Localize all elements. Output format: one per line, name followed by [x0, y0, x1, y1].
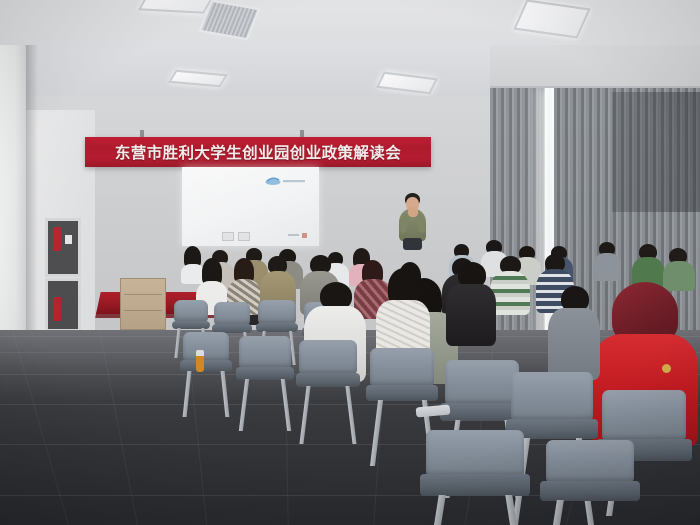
right-upper-wall [490, 45, 700, 90]
person-torso [548, 308, 600, 380]
wooden-cabinet [120, 278, 166, 330]
audience-member [596, 242, 618, 268]
slide-logo-icon [264, 176, 308, 186]
audience-chair [236, 336, 294, 396]
event-banner: 东营市胜利大学生创业园创业政策解读会 [85, 137, 431, 167]
audience-chair [540, 440, 640, 525]
conference-room-photo: 东营市胜利大学生创业园创业政策解读会 [0, 0, 700, 525]
wall-power-socket [238, 232, 250, 241]
presenter-speaker [396, 193, 430, 248]
audience-member [446, 262, 496, 342]
fire-extinguisher-cabinet [45, 218, 81, 277]
audience-member [376, 268, 430, 354]
audience-member [228, 258, 258, 300]
person-torso [446, 284, 496, 346]
banner-hook-icon [140, 130, 144, 137]
lapel-pin-icon [662, 364, 671, 373]
wall-power-socket [222, 232, 234, 241]
presenter-legs [403, 238, 422, 250]
audience-chair [420, 430, 530, 525]
audience-member [262, 256, 292, 298]
audience-member [492, 256, 526, 302]
audience-member [198, 258, 226, 298]
cabinet-drawer-line [124, 310, 162, 311]
audience-chair [180, 332, 232, 386]
audience-member [666, 248, 690, 276]
audience-member [548, 286, 600, 376]
banner-hook-icon [300, 130, 304, 137]
banner-title-text: 东营市胜利大学生创业园创业政策解读会 [115, 141, 401, 163]
audience-chair [296, 340, 360, 404]
fire-extinguisher-cabinet [45, 278, 81, 332]
cabinet-label [65, 235, 72, 244]
person-torso [593, 253, 621, 281]
cabinet-drawer-line [124, 294, 162, 295]
fire-extinguisher-icon [53, 227, 61, 251]
slide-footer-mark [288, 233, 312, 238]
audience-member [636, 244, 660, 274]
presenter-hands [408, 207, 418, 217]
right-wall-shadow [612, 92, 700, 212]
fire-extinguisher-icon [53, 297, 61, 321]
person-torso [490, 271, 530, 315]
water-bottle [196, 350, 204, 372]
